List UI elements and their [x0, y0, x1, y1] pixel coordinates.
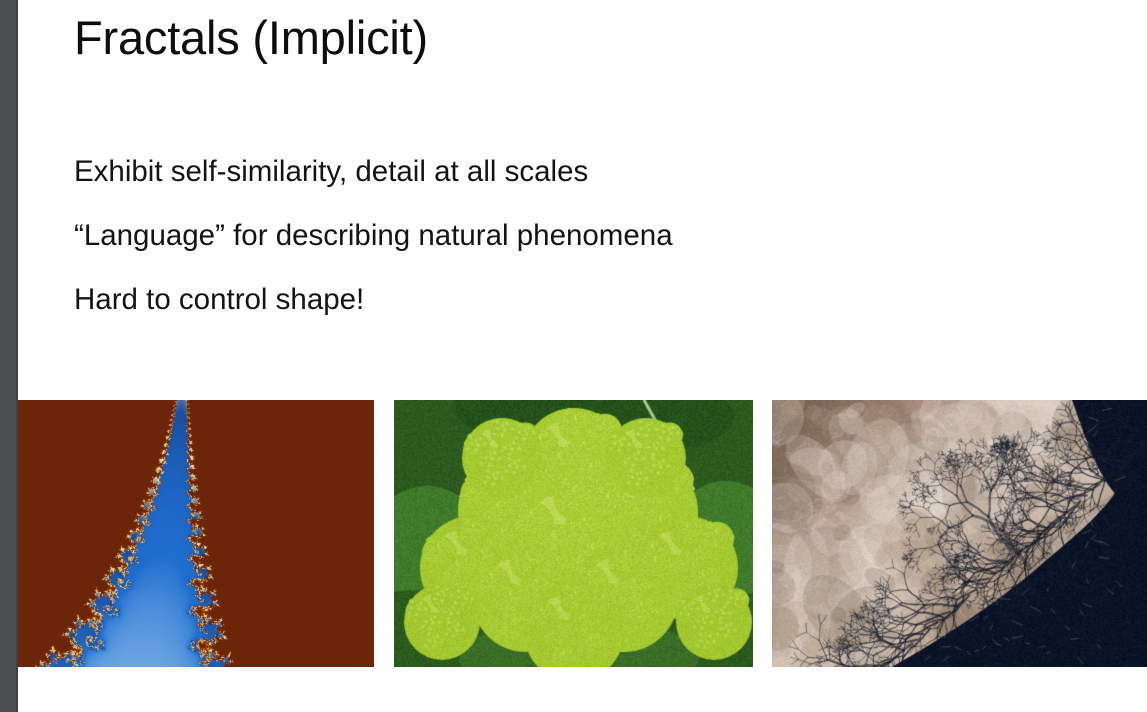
slide-body-text: Exhibit self-similarity, detail at all s… — [74, 140, 994, 332]
presentation-slide: Fractals (Implicit) Exhibit self-similar… — [0, 0, 1147, 712]
mandelbrot-fractal-photo — [18, 400, 374, 667]
fractal-image-row — [0, 400, 1147, 667]
body-line-2: “Language” for describing natural phenom… — [74, 204, 994, 268]
page-title: Fractals (Implicit) — [74, 10, 428, 65]
body-line-1: Exhibit self-similarity, detail at all s… — [74, 140, 994, 204]
romanesco-broccoli-photo — [394, 400, 753, 667]
body-line-3: Hard to control shape! — [74, 268, 994, 332]
river-delta-satellite-photo — [772, 400, 1147, 667]
